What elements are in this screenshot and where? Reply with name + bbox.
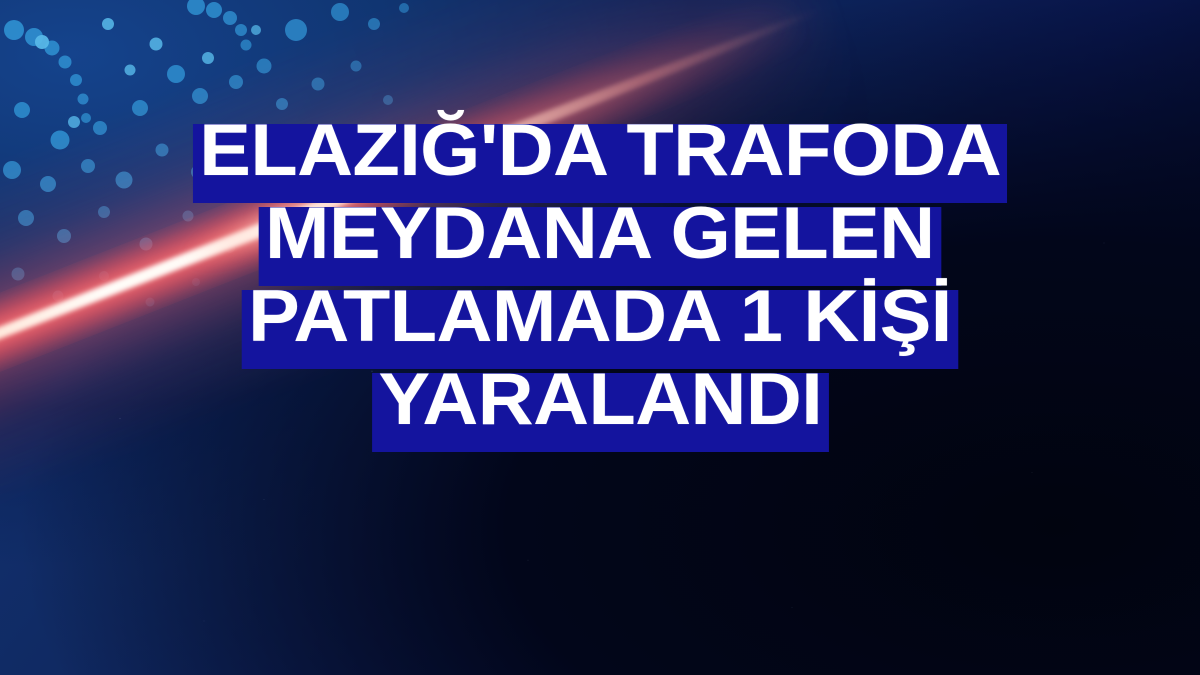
headline-line-1-text: ELAZIĞ'DA TRAFODA: [193, 112, 1007, 190]
headline-line: ELAZIĞ'DA TRAFODA: [0, 112, 1200, 195]
headline: ELAZIĞ'DA TRAFODA MEYDANA GELEN PATLAMAD…: [0, 112, 1200, 444]
headline-line-2-text: MEYDANA GELEN: [259, 195, 941, 273]
headline-line: YARALANDI: [0, 361, 1200, 444]
headline-line: MEYDANA GELEN: [0, 195, 1200, 278]
headline-line: PATLAMADA 1 KİŞİ: [0, 278, 1200, 361]
headline-line-4-text: YARALANDI: [372, 361, 829, 439]
headline-line-3-text: PATLAMADA 1 KİŞİ: [242, 278, 958, 356]
headline-card: ELAZIĞ'DA TRAFODA MEYDANA GELEN PATLAMAD…: [0, 0, 1200, 675]
